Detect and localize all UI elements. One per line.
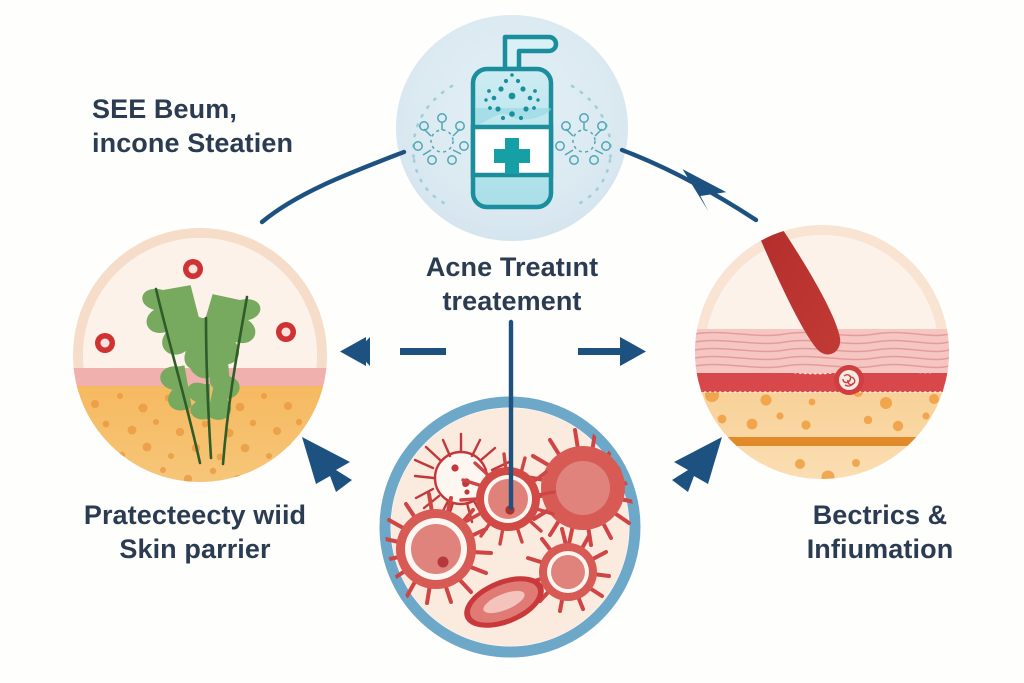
label-bottom-right: Bectrics & Infiumation — [730, 498, 1024, 566]
diagram-center-title: Acne Treatınt treatement — [352, 250, 672, 318]
skin-barrier-node-graphic — [73, 228, 327, 496]
curve-product-to-left — [262, 152, 404, 222]
label-bottom-left: Pratecteecty wiid Skin parrier — [40, 498, 350, 566]
label-top-left: SEE Beum, incone Steatien — [92, 92, 392, 160]
inflammation-node-graphic — [695, 196, 949, 526]
arrowhead-product-to-right — [683, 166, 728, 213]
arrow-center-to-right — [578, 337, 646, 366]
arrow-center-to-left — [340, 337, 446, 366]
inflamed-pore-icon — [834, 365, 864, 395]
curve-product-to-right — [622, 150, 756, 220]
arrow-bacteria-to-left — [302, 437, 352, 492]
diagram-canvas: SEE Beum, incone Steatien Acne Treatınt … — [0, 0, 1024, 683]
product-node-graphic — [396, 15, 628, 241]
arrow-bacteria-to-right — [672, 437, 722, 492]
